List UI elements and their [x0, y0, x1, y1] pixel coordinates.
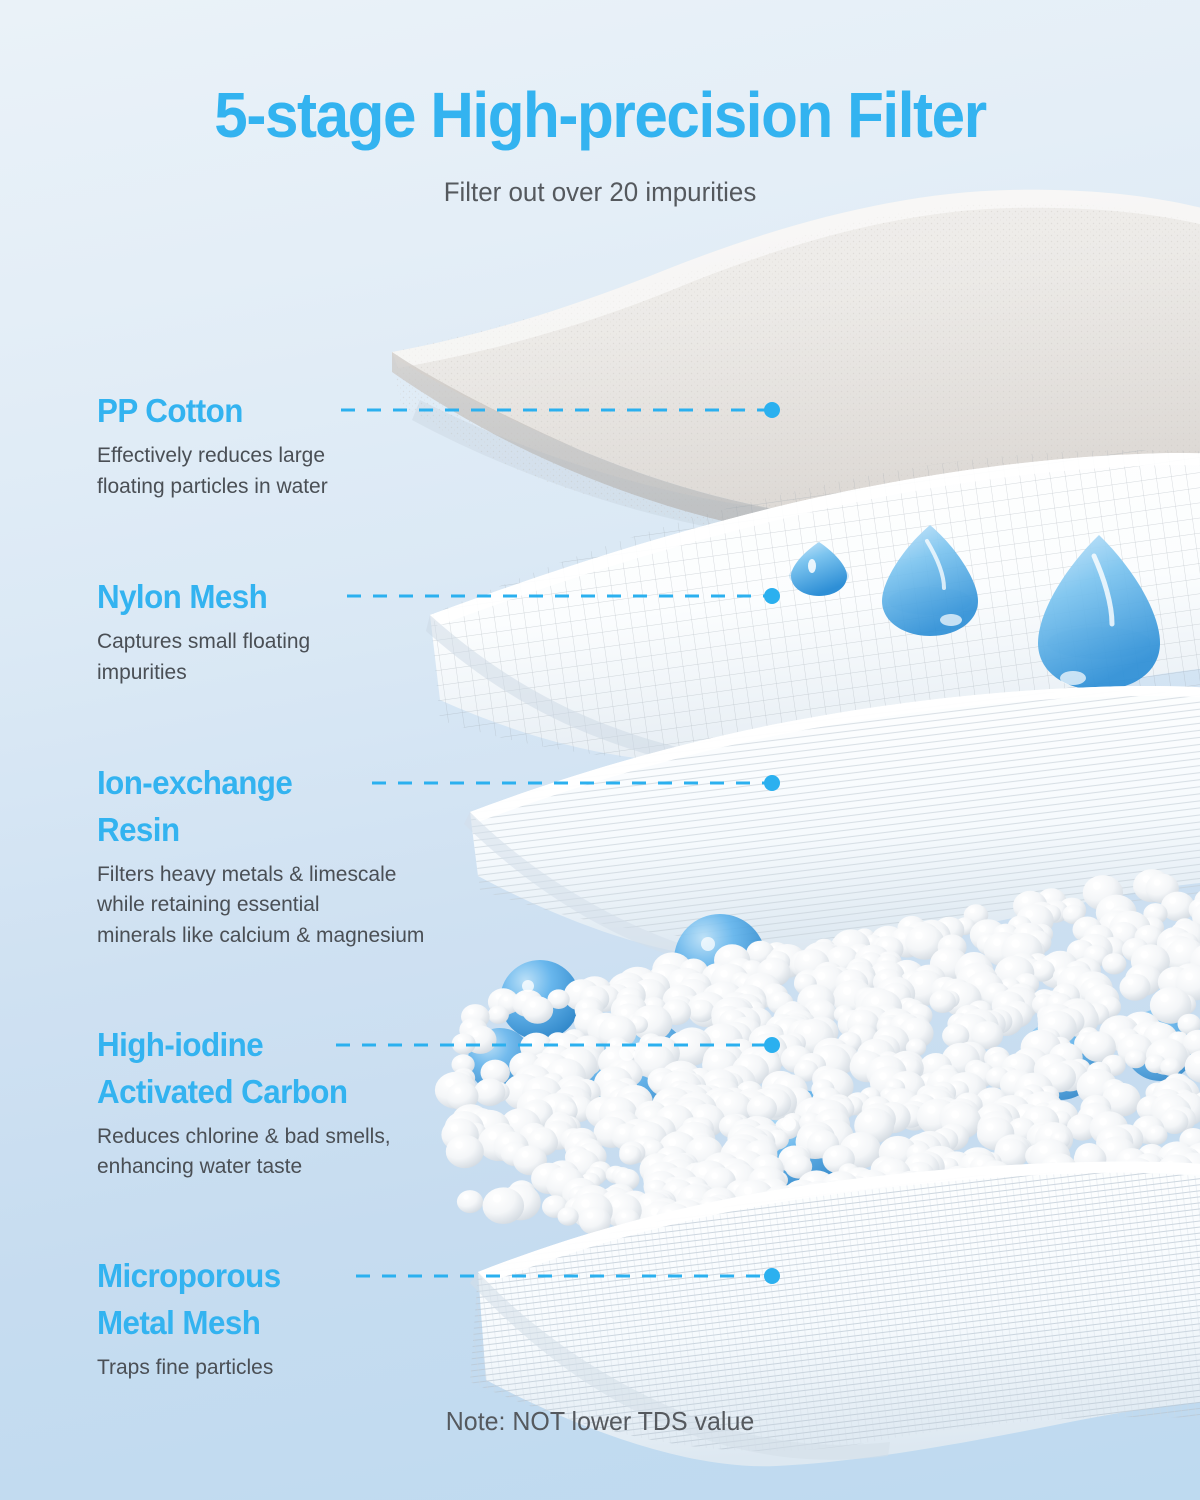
stage-label-nylon-mesh: Nylon Mesh Captures small floating impur… — [97, 574, 316, 687]
stage-description: Traps fine particles — [97, 1352, 285, 1383]
stage-label-microporous-metal-mesh: Microporous Metal Mesh Traps fine partic… — [97, 1253, 290, 1382]
stage-label-ion-exchange-resin: Ion-exchange Resin Filters heavy metals … — [97, 760, 433, 951]
stage-title: High-iodine Activated Carbon — [97, 1022, 383, 1116]
stage-label-high-iodine-activated-carbon: High-iodine Activated Carbon Reduces chl… — [97, 1022, 398, 1182]
stage-description: Effectively reduces large floating parti… — [97, 440, 328, 501]
stage-title: Ion-exchange Resin — [97, 760, 416, 854]
leader-dot-3 — [764, 775, 780, 791]
infographic-page: 5-stage High-precision Filter Filter out… — [0, 0, 1200, 1500]
stage-title: PP Cotton — [97, 388, 322, 435]
stage-description: Captures small floating impurities — [97, 626, 310, 687]
stage-title: Microporous Metal Mesh — [97, 1253, 281, 1347]
stage-description: Filters heavy metals & limescale while r… — [97, 859, 424, 951]
leader-dot-5 — [764, 1268, 780, 1284]
stage-description: Reduces chlorine & bad smells, enhancing… — [97, 1121, 391, 1182]
leader-dot-2 — [764, 588, 780, 604]
page-subtitle: Filter out over 20 impurities — [24, 177, 1176, 208]
page-title: 5-stage High-precision Filter — [36, 78, 1164, 152]
leader-dot-4 — [764, 1037, 780, 1053]
footer-note: Note: NOT lower TDS value — [24, 1406, 1176, 1437]
stage-title: Nylon Mesh — [97, 574, 305, 621]
stage-label-pp-cotton: PP Cotton Effectively reduces large floa… — [97, 388, 334, 501]
leader-dot-1 — [764, 402, 780, 418]
